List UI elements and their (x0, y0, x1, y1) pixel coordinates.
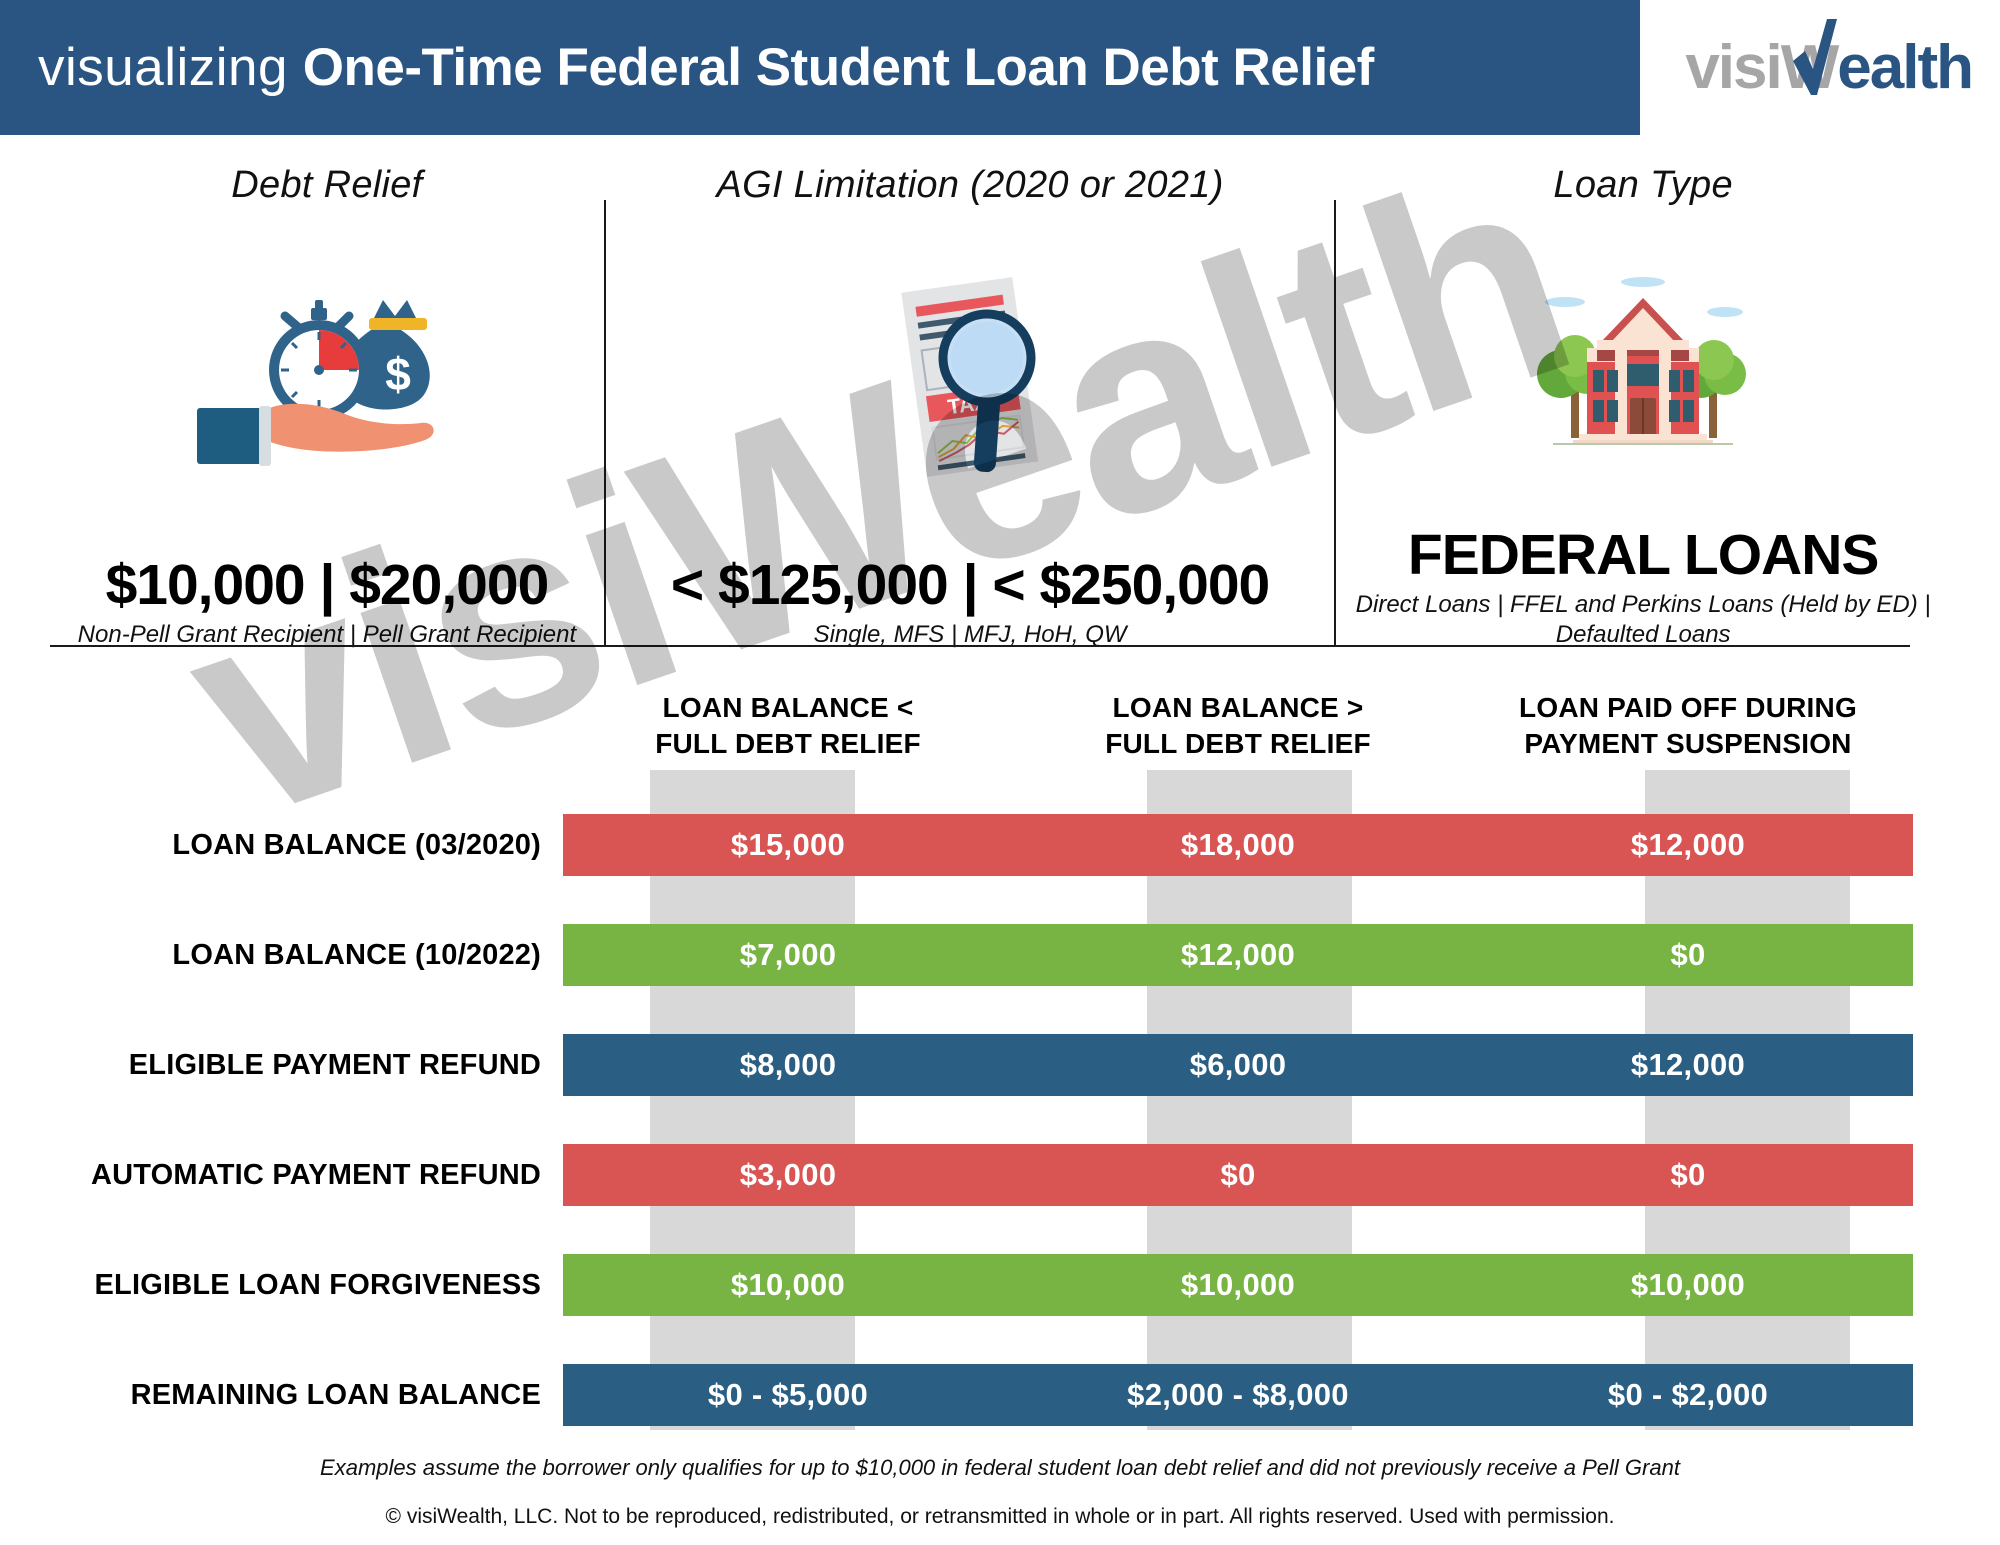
panel-title: Debt Relief (231, 164, 422, 207)
footnote: Examples assume the borrower only qualif… (0, 1455, 2000, 1481)
table-row: LOAN BALANCE (03/2020) $15,000 $18,000 $… (0, 790, 2000, 900)
logo-w-wrap: W (1781, 37, 1838, 99)
row-cell: $0 (1463, 1157, 1913, 1193)
logo-visi-text: visi (1685, 37, 1780, 99)
panel-value: < $125,000 | < $250,000 (671, 552, 1269, 618)
row-cell: $7,000 (563, 937, 1013, 973)
column-header-2: LOAN BALANCE > FULL DEBT RELIEF (1013, 690, 1463, 780)
row-cell: $10,000 (1013, 1267, 1463, 1303)
row-cell: $6,000 (1013, 1047, 1463, 1083)
row-bar: $15,000 $18,000 $12,000 (563, 814, 1913, 876)
row-cell: $2,000 - $8,000 (1013, 1377, 1463, 1413)
column-header-line1: LOAN PAID OFF DURING (1463, 690, 1913, 726)
panel-title: AGI Limitation (2020 or 2021) (716, 164, 1223, 207)
panel-agi-limitation: AGI Limitation (2020 or 2021) TAX (606, 160, 1334, 650)
tax-form-magnifying-glass-icon: TAX (606, 207, 1334, 552)
panel-value: $10,000 | $20,000 (106, 552, 549, 618)
table-row: ELIGIBLE LOAN FORGIVENESS $10,000 $10,00… (0, 1230, 2000, 1340)
title-bold-part: One-Time Federal Student Loan Debt Relie… (303, 38, 1374, 97)
logo-ealth-text: ealth (1837, 37, 1972, 99)
row-label: ELIGIBLE LOAN FORGIVENESS (0, 1269, 563, 1302)
panel-subtitle: Direct Loans | FFEL and Perkins Loans (H… (1342, 590, 1943, 650)
column-header-line2: FULL DEBT RELIEF (1013, 726, 1463, 762)
row-label: REMAINING LOAN BALANCE (0, 1379, 563, 1412)
table-column-headers: LOAN BALANCE < FULL DEBT RELIEF LOAN BAL… (563, 690, 1913, 780)
university-building-icon (1336, 207, 1950, 522)
column-header-line2: FULL DEBT RELIEF (563, 726, 1013, 762)
hand-holding-money-stopwatch-icon: $ (50, 207, 604, 552)
row-bar: $0 - $5,000 $2,000 - $8,000 $0 - $2,000 (563, 1364, 1913, 1426)
table-rows: LOAN BALANCE (03/2020) $15,000 $18,000 $… (0, 790, 2000, 1450)
title-light-part: visualizing (38, 38, 288, 97)
row-cell: $0 (1463, 937, 1913, 973)
row-cell: $18,000 (1013, 827, 1463, 863)
row-cell: $0 - $2,000 (1463, 1377, 1913, 1413)
row-label: ELIGIBLE PAYMENT REFUND (0, 1049, 563, 1082)
column-header-line1: LOAN BALANCE < (563, 690, 1013, 726)
row-cell: $8,000 (563, 1047, 1013, 1083)
row-label: LOAN BALANCE (03/2020) (0, 829, 563, 862)
table-row: REMAINING LOAN BALANCE $0 - $5,000 $2,00… (0, 1340, 2000, 1450)
row-cell: $10,000 (563, 1267, 1013, 1303)
row-cell: $0 (1013, 1157, 1463, 1193)
panel-title: Loan Type (1553, 164, 1732, 207)
horizontal-divider (50, 645, 1910, 647)
row-cell: $12,000 (1463, 827, 1913, 863)
header-bar: visualizing One-Time Federal Student Loa… (0, 0, 1640, 135)
row-bar: $10,000 $10,000 $10,000 (563, 1254, 1913, 1316)
table-row: AUTOMATIC PAYMENT REFUND $3,000 $0 $0 (0, 1120, 2000, 1230)
row-cell: $15,000 (563, 827, 1013, 863)
copyright-notice: © visiWealth, LLC. Not to be reproduced,… (0, 1505, 2000, 1529)
summary-panels: Debt Relief $ (50, 160, 1950, 650)
panel-debt-relief: Debt Relief $ (50, 160, 604, 650)
row-bar: $7,000 $12,000 $0 (563, 924, 1913, 986)
column-header-line1: LOAN BALANCE > (1013, 690, 1463, 726)
column-header-line2: PAYMENT SUSPENSION (1463, 726, 1913, 762)
page-title: visualizing One-Time Federal Student Loa… (38, 41, 1374, 94)
row-cell: $12,000 (1463, 1047, 1913, 1083)
table-row: LOAN BALANCE (10/2022) $7,000 $12,000 $0 (0, 900, 2000, 1010)
row-bar: $8,000 $6,000 $12,000 (563, 1034, 1913, 1096)
panel-loan-type: Loan Type (1336, 160, 1950, 650)
row-cell: $0 - $5,000 (563, 1377, 1013, 1413)
row-cell: $3,000 (563, 1157, 1013, 1193)
row-bar: $3,000 $0 $0 (563, 1144, 1913, 1206)
row-cell: $10,000 (1463, 1267, 1913, 1303)
logo-w-text: W (1781, 33, 1838, 102)
visiwealth-logo[interactable]: visiWealth (1685, 22, 1972, 114)
row-cell: $12,000 (1013, 937, 1463, 973)
panel-value: FEDERAL LOANS (1408, 522, 1878, 588)
table-row: ELIGIBLE PAYMENT REFUND $8,000 $6,000 $1… (0, 1010, 2000, 1120)
row-label: AUTOMATIC PAYMENT REFUND (0, 1159, 563, 1192)
column-header-1: LOAN BALANCE < FULL DEBT RELIEF (563, 690, 1013, 780)
row-label: LOAN BALANCE (10/2022) (0, 939, 563, 972)
svg-text:$: $ (385, 348, 411, 400)
column-header-3: LOAN PAID OFF DURING PAYMENT SUSPENSION (1463, 690, 1913, 780)
